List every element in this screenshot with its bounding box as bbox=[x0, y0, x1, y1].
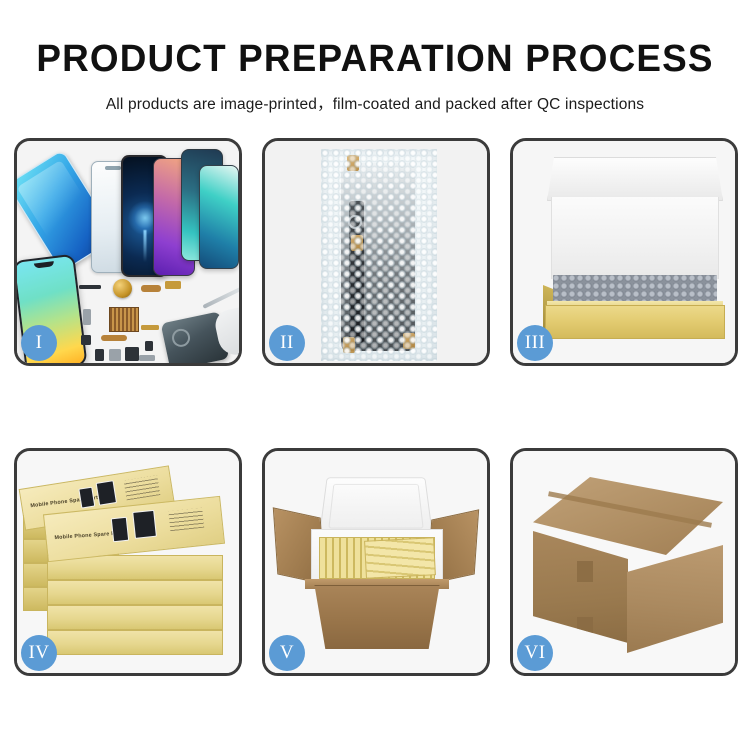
white-box-lid bbox=[547, 157, 723, 201]
step-badge-3: III bbox=[517, 325, 553, 361]
page-title: PRODUCT PREPARATION PROCESS bbox=[11, 40, 739, 80]
component-gold-contact bbox=[165, 281, 181, 289]
component-chip bbox=[95, 349, 104, 361]
product-preparation-infographic: PRODUCT PREPARATION PROCESS All products… bbox=[0, 0, 750, 750]
component-shield bbox=[83, 309, 91, 325]
process-step-grid: I II bbox=[14, 138, 740, 676]
carton-tape-patch bbox=[577, 561, 593, 582]
wallpaper-streak bbox=[143, 230, 146, 262]
box-screen-thumbnail bbox=[132, 510, 157, 539]
glass-notch bbox=[105, 166, 121, 170]
component-flex-cable bbox=[141, 285, 161, 292]
process-step-3: III bbox=[510, 138, 738, 366]
bubble-texture-overlay bbox=[321, 149, 437, 361]
step-badge-5: V bbox=[269, 635, 305, 671]
box-screen-thumbnail bbox=[111, 517, 129, 543]
box-screen-thumbnail bbox=[78, 487, 95, 509]
component-shield bbox=[139, 355, 155, 361]
process-step-1: I bbox=[14, 138, 242, 366]
component-chip bbox=[125, 347, 139, 361]
page-subtitle: All products are image-printed，film-coat… bbox=[0, 92, 750, 114]
speaker-coil-part bbox=[113, 279, 132, 298]
connector-board-part bbox=[109, 307, 139, 332]
component-chip bbox=[79, 285, 101, 289]
box-screen-thumbnail bbox=[96, 480, 117, 506]
process-step-5: V bbox=[262, 448, 490, 676]
box-spec-text-lines bbox=[124, 475, 161, 500]
tweezers-tool bbox=[202, 285, 239, 309]
process-step-6: VI bbox=[510, 448, 738, 676]
step-badge-1: I bbox=[21, 325, 57, 361]
header: PRODUCT PREPARATION PROCESS All products… bbox=[0, 0, 750, 114]
spare-components-group bbox=[79, 279, 239, 363]
packed-yellow-boxes-angled bbox=[364, 537, 436, 579]
component-flex-cable bbox=[101, 335, 127, 341]
process-step-4: Mobile Phone Spare Parts Mobile Phone Sp… bbox=[14, 448, 242, 676]
bubble-wrap-bag bbox=[321, 149, 437, 361]
carton-right-face bbox=[627, 545, 723, 653]
kraft-box-tray bbox=[545, 305, 725, 339]
step-badge-4: IV bbox=[21, 635, 57, 671]
component-chip bbox=[145, 341, 153, 351]
process-step-2: II bbox=[262, 138, 490, 366]
stacked-box-layer bbox=[47, 630, 223, 655]
box-spec-text-lines bbox=[168, 508, 204, 531]
component-shield bbox=[109, 349, 121, 361]
carton-left-face bbox=[533, 531, 628, 643]
stacked-box-layer bbox=[47, 580, 223, 605]
teal-phone-front bbox=[199, 165, 239, 269]
carton-front-face bbox=[309, 585, 445, 649]
stacked-box-layer bbox=[47, 605, 223, 630]
carton-tape-patch bbox=[577, 617, 593, 638]
step-badge-2: II bbox=[269, 325, 305, 361]
component-gold-contact bbox=[141, 325, 159, 330]
component-chip bbox=[81, 335, 91, 345]
step-badge-6: VI bbox=[517, 635, 553, 671]
white-box-inner-wall bbox=[551, 197, 719, 279]
